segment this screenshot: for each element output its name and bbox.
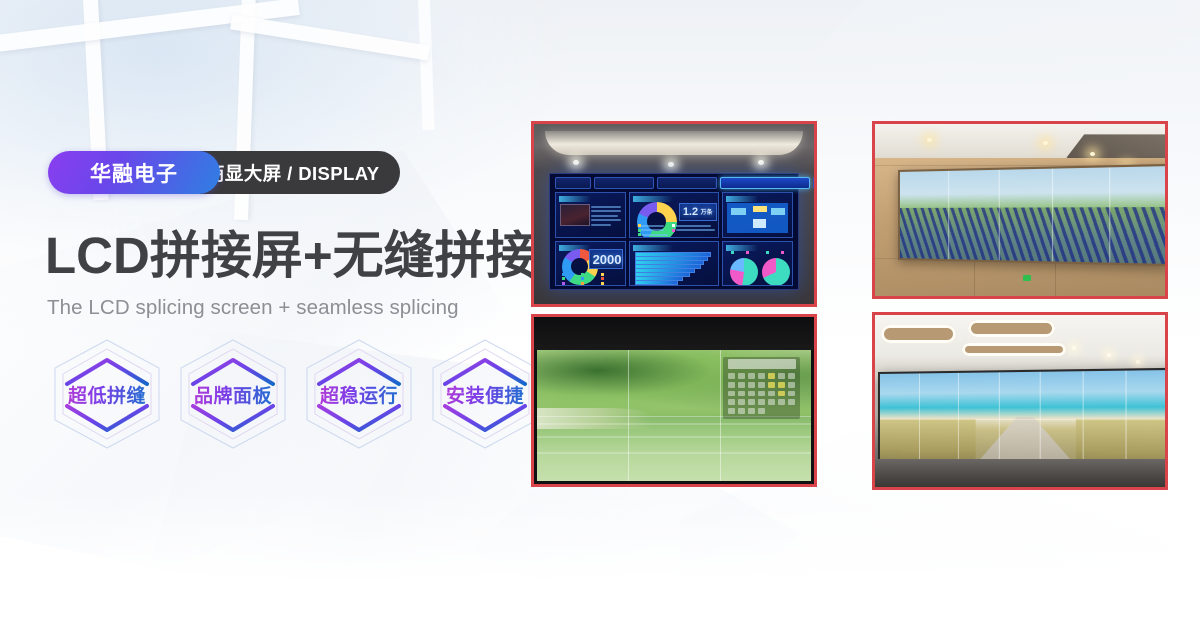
legend-swatch xyxy=(746,251,749,254)
calendar-cell xyxy=(788,382,795,388)
feature-badge-2: 品牌面板 xyxy=(174,336,292,452)
calendar-cell xyxy=(738,373,745,379)
flow-node xyxy=(731,208,746,215)
feature-badge-row: 超低拼缝 品牌面板 xyxy=(48,336,544,452)
flow-node xyxy=(753,219,765,228)
screen-bezel-seam xyxy=(880,418,1168,419)
upper-bezel-area xyxy=(534,317,814,350)
calendar-cell xyxy=(738,382,745,388)
legend-swatch xyxy=(581,282,584,285)
photo-content: 1.2 万条 xyxy=(534,124,814,304)
legend-label xyxy=(641,229,664,231)
ceiling-light-icon xyxy=(927,138,932,142)
bar-row xyxy=(635,280,678,285)
calendar-cell xyxy=(788,391,795,397)
calendar-cell xyxy=(758,408,765,414)
dashboard-screen: 1.2 万条 xyxy=(549,173,798,290)
ceiling-light-icon xyxy=(1107,353,1111,357)
legend-swatch xyxy=(638,229,641,232)
headline-column: 商显大屏 / DISPLAY 华融电子 LCD拼接屏+无缝拼接 The LCD … xyxy=(0,0,520,640)
dune-grass-left xyxy=(880,418,975,464)
calendar-cell xyxy=(778,373,785,379)
dashboard-text-line xyxy=(591,215,618,217)
feature-badge-label: 超低拼缝 xyxy=(68,381,146,408)
exit-sign-icon xyxy=(1023,275,1031,281)
brand-badge: 华融电子 xyxy=(48,151,220,194)
legend-swatch xyxy=(581,273,584,276)
legend-swatch xyxy=(638,233,641,236)
legend-swatch xyxy=(672,224,675,227)
dashboard-text-line xyxy=(591,210,621,212)
calendar-cell xyxy=(728,373,735,379)
page-title: LCD拼接屏+无缝拼接 xyxy=(45,228,537,284)
legend-swatch xyxy=(766,251,769,254)
calendar-title xyxy=(728,359,796,369)
dashboard-panel-grid: 1.2 万条 xyxy=(555,192,792,286)
flow-node xyxy=(771,208,785,215)
calendar-cell xyxy=(778,391,785,397)
donut-chart xyxy=(637,202,677,238)
feature-badge-3: 超稳运行 xyxy=(300,336,418,452)
calendar-cell xyxy=(748,373,755,379)
product-photo-willow-lake-video-wall xyxy=(531,314,817,487)
calendar-cell xyxy=(758,382,765,388)
ceiling-cove xyxy=(545,131,803,154)
legend-swatch xyxy=(581,277,584,280)
legend-swatch xyxy=(638,224,641,227)
ceiling-cove-light xyxy=(881,325,956,342)
calendar-cell xyxy=(788,373,795,379)
legend-swatch xyxy=(601,282,604,285)
legend-swatch xyxy=(601,277,604,280)
dashboard-tab xyxy=(657,177,717,189)
wall-panel-seam xyxy=(974,258,975,296)
calendar-cell xyxy=(778,382,785,388)
calendar-cell xyxy=(748,391,755,397)
calendar-cell xyxy=(728,408,735,414)
legend-label xyxy=(641,234,668,236)
calendar-cell xyxy=(748,399,755,405)
calendar-cell xyxy=(738,391,745,397)
legend-swatch xyxy=(672,229,675,232)
legend-swatch xyxy=(731,251,734,254)
calendar-cell xyxy=(738,399,745,405)
solar-panel-array xyxy=(900,208,1168,265)
legend-label xyxy=(676,229,715,231)
ceiling-cove-light xyxy=(968,320,1055,337)
calendar-cell xyxy=(768,391,775,397)
dashboard-text-line xyxy=(591,224,612,226)
calendar-cell xyxy=(768,373,775,379)
legend-label xyxy=(641,225,664,227)
ceiling-light-icon xyxy=(758,160,764,165)
dashboard-metric-unit: 万条 xyxy=(701,207,713,216)
promotional-banner: 商显大屏 / DISPLAY 华融电子 LCD拼接屏+无缝拼接 The LCD … xyxy=(0,0,1200,640)
feature-badge-label: 超稳运行 xyxy=(320,381,398,408)
pie-chart xyxy=(762,258,790,286)
dashboard-tab xyxy=(813,177,817,189)
calendar-cell xyxy=(728,399,735,405)
dashboard-text-line xyxy=(591,206,621,208)
dashboard-tab-bar xyxy=(555,176,792,190)
legend-swatch xyxy=(562,282,565,285)
dashboard-tab xyxy=(594,177,654,189)
ceiling-cove-light xyxy=(962,343,1066,357)
feature-badge-label: 品牌面板 xyxy=(194,381,272,408)
dashboard-card-secondary-metric: 2000 xyxy=(555,241,625,287)
calendar-cell xyxy=(788,399,795,405)
page-subtitle: The LCD splicing screen + seamless splic… xyxy=(47,296,459,320)
photo-content xyxy=(875,124,1165,296)
brand-badge-row: 商显大屏 / DISPLAY 华融电子 xyxy=(48,151,220,194)
dashboard-thumbnail xyxy=(560,204,589,226)
legend-swatch xyxy=(562,273,565,276)
product-photo-dashboard-video-wall: 1.2 万条 xyxy=(531,121,817,307)
lake-bank xyxy=(537,408,652,429)
legend-swatch xyxy=(601,273,604,276)
beach-boardwalk-screen xyxy=(878,367,1168,469)
feature-badge-label: 安装便捷 xyxy=(446,381,524,408)
water-reflection xyxy=(537,423,811,425)
legend-label xyxy=(676,225,711,227)
calendar-cell xyxy=(728,391,735,397)
calendar-cell xyxy=(778,399,785,405)
calendar-cell xyxy=(768,382,775,388)
calendar-cell xyxy=(728,382,735,388)
dashboard-metric-large: 1.2 xyxy=(683,206,698,218)
wall-panel-seam xyxy=(1055,258,1056,296)
dashboard-card-statistics: 1.2 万条 xyxy=(629,192,720,238)
calendar-cell xyxy=(738,408,745,414)
dashboard-metric-secondary: 2000 xyxy=(593,252,622,267)
boardwalk-path xyxy=(975,417,1076,466)
calendar-cell xyxy=(758,373,765,379)
calendar-cell xyxy=(748,382,755,388)
calendar-cell xyxy=(758,391,765,397)
legend-swatch xyxy=(781,251,784,254)
feature-badge-4: 安装便捷 xyxy=(426,336,544,452)
dashboard-card-intro xyxy=(555,192,625,238)
flow-node xyxy=(753,206,767,212)
photo-content xyxy=(875,315,1165,487)
feature-badge-1: 超低拼缝 xyxy=(48,336,166,452)
calendar-cell xyxy=(768,399,775,405)
water-reflection xyxy=(537,452,811,454)
dashboard-card-bar-list xyxy=(629,241,720,287)
calendar-cell xyxy=(758,399,765,405)
solar-farm-screen xyxy=(898,164,1168,266)
ceiling-light-icon xyxy=(1090,152,1095,156)
calendar-widget xyxy=(723,357,800,420)
product-photo-beach-boardwalk-video-wall xyxy=(872,312,1168,490)
willow-lake-screen xyxy=(537,350,811,480)
photo-content xyxy=(534,317,814,484)
calendar-cell xyxy=(748,408,755,414)
legend-swatch xyxy=(562,277,565,280)
water-reflection xyxy=(537,436,811,438)
pie-chart xyxy=(730,258,758,286)
dashboard-card-pie-charts xyxy=(722,241,792,287)
hall-floor xyxy=(875,459,1165,487)
ceiling-light-icon xyxy=(1136,360,1140,364)
product-photo-solar-farm-video-wall xyxy=(872,121,1168,299)
dashboard-text-line xyxy=(591,219,621,221)
dashboard-timestamp xyxy=(555,177,591,189)
dashboard-tab-active xyxy=(720,177,810,189)
dashboard-card-flow-diagram xyxy=(722,192,792,238)
